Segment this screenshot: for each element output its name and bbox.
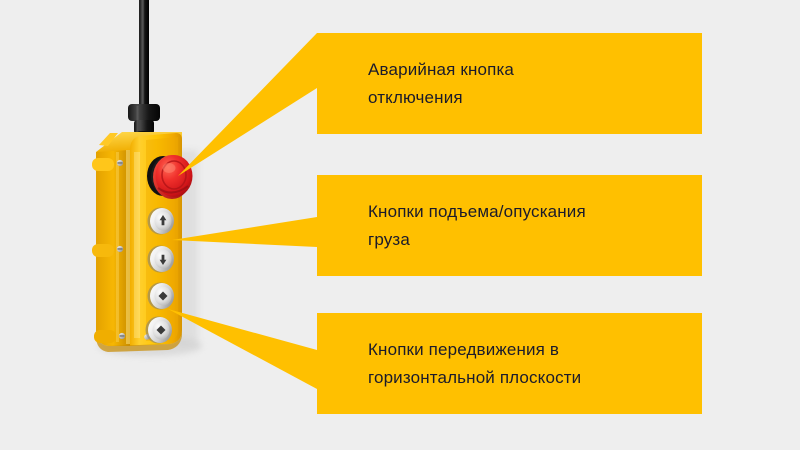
callout-label-emergency-stop: Аварийная кнопка отключения — [317, 56, 530, 112]
leader-wedge-3 — [168, 309, 317, 389]
callout-box-travel: Кнопки передвижения в горизонтальной пло… — [317, 313, 702, 414]
callout-box-emergency-stop: Аварийная кнопка отключения — [317, 33, 702, 134]
callout-label-travel: Кнопки передвижения в горизонтальной пло… — [317, 336, 597, 392]
infographic-canvas: Аварийная кнопка отключения Кнопки подъе… — [0, 0, 800, 450]
leader-wedge-1 — [178, 33, 317, 176]
callout-label-hoist: Кнопки подъема/опускания груза — [317, 198, 602, 254]
leader-wedge-2 — [172, 217, 317, 247]
callout-box-hoist: Кнопки подъема/опускания груза — [317, 175, 702, 276]
